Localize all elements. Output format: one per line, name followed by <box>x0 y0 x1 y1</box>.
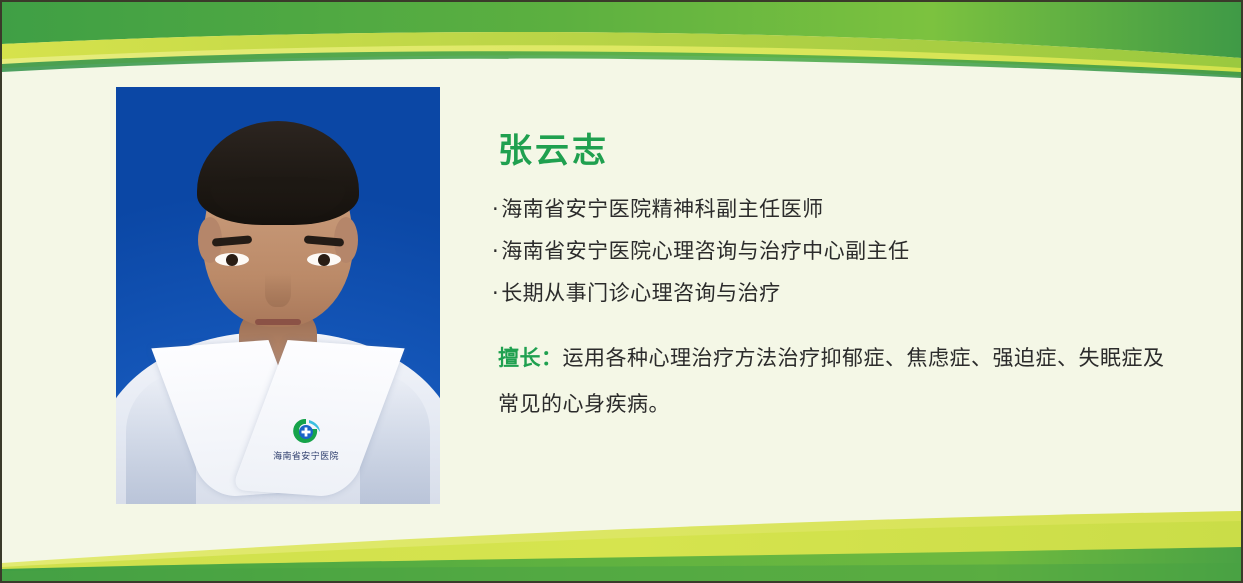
doctor-profile-card: 海南省安宁医院 张云志 ·海南省安宁医院精神科副主任医师 ·海南省安宁医院心理咨… <box>0 0 1243 583</box>
top-banner-graphic <box>2 2 1241 80</box>
portrait-image: 海南省安宁医院 <box>116 87 440 504</box>
credential-item: ·海南省安宁医院心理咨询与治疗中心副主任 <box>492 230 1217 272</box>
card-content: 海南省安宁医院 张云志 ·海南省安宁医院精神科副主任医师 ·海南省安宁医院心理咨… <box>2 80 1241 501</box>
credential-text: 海南省安宁医院精神科副主任医师 <box>501 197 824 221</box>
top-decorative-banner <box>2 2 1241 80</box>
hospital-logo-icon <box>289 417 323 447</box>
nose <box>265 273 291 307</box>
credential-text: 长期从事门诊心理咨询与治疗 <box>501 281 781 305</box>
eye-right <box>307 253 341 266</box>
doctor-photo: 海南省安宁医院 <box>116 87 440 504</box>
specialty-text: 运用各种心理治疗方法治疗抑郁症、焦虑症、强迫症、失眠症及常见的心身疾病。 <box>498 346 1165 416</box>
bullet-icon: · <box>492 239 499 263</box>
credential-item: ·长期从事门诊心理咨询与治疗 <box>492 272 1217 314</box>
bullet-icon: · <box>492 281 499 305</box>
credential-item: ·海南省安宁医院精神科副主任医师 <box>492 188 1217 230</box>
mouth <box>255 319 301 325</box>
credential-text: 海南省安宁医院心理咨询与治疗中心副主任 <box>501 239 910 263</box>
eye-left <box>215 253 249 266</box>
hospital-logo-graphic <box>289 417 323 447</box>
doctor-name: 张云志 <box>498 134 1217 168</box>
hospital-badge-text: 海南省安宁医院 <box>260 449 352 462</box>
doctor-info: 张云志 ·海南省安宁医院精神科副主任医师 ·海南省安宁医院心理咨询与治疗中心副主… <box>492 134 1241 448</box>
specialty-label: 擅长： <box>498 346 563 370</box>
chest-badge: 海南省安宁医院 <box>260 417 352 462</box>
credentials-list: ·海南省安宁医院精神科副主任医师 ·海南省安宁医院心理咨询与治疗中心副主任 ·长… <box>492 188 1217 314</box>
bullet-icon: · <box>492 197 499 221</box>
bottom-decorative-banner <box>2 501 1241 581</box>
bottom-banner-graphic <box>2 501 1241 581</box>
specialty-paragraph: 擅长：运用各种心理治疗方法治疗抑郁症、焦虑症、强迫症、失眠症及常见的心身疾病。 <box>498 335 1170 427</box>
hair <box>197 121 359 225</box>
